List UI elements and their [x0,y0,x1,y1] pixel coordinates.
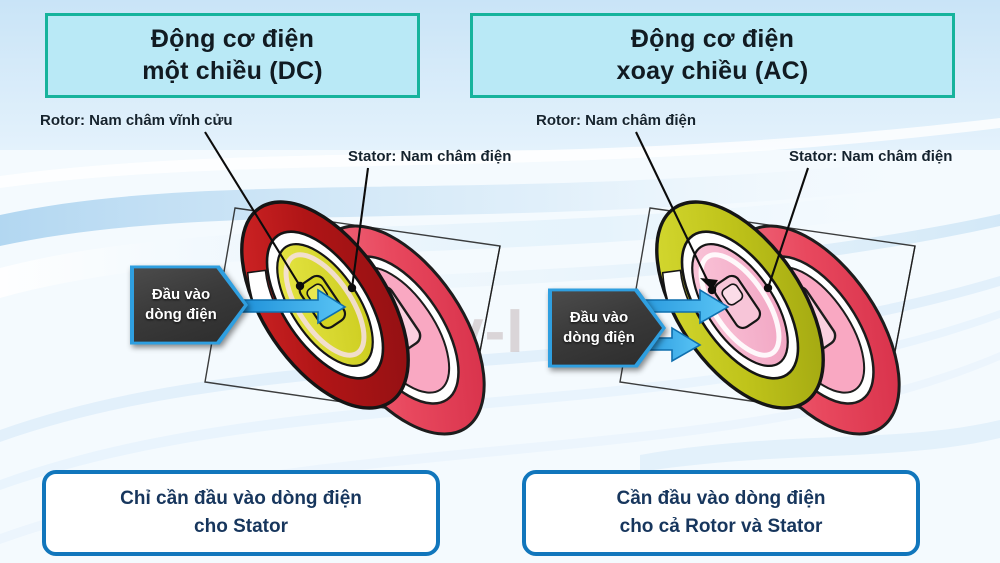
conclusion-text-dc: Chỉ cần đầu vào dòng điện cho Stator [120,485,362,540]
label-rotor-dc: Rotor: Nam châm vĩnh cửu [40,112,233,129]
leader-line-stator-dc [348,168,368,292]
watermark-text: joy-I [392,296,524,367]
label-stator-ac: Stator: Nam châm điện [789,148,952,165]
motor-dc [205,132,518,463]
callout-text-dc: Đầu vào dòng điện [145,285,233,325]
motor-ac [620,132,933,463]
leader-line-rotor-ac [636,132,718,294]
diagram-canvas: joy-I BRING [0,0,1000,563]
conclusion-box-dc: Chỉ cần đầu vào dòng điện cho Stator [42,470,440,556]
title-text-ac: Động cơ điện xoay chiều (AC) [617,24,809,87]
callout-current-input-dc: Đầu vào dòng điện [130,262,248,348]
title-box-ac: Động cơ điện xoay chiều (AC) [470,13,955,98]
title-box-dc: Động cơ điện một chiều (DC) [45,13,420,98]
callout-text-ac: Đầu vào dòng điện [563,308,651,348]
callout-current-input-ac: Đầu vào dòng điện [548,285,666,371]
leader-line-stator-ac [764,168,808,292]
current-arrow-dc [238,290,345,323]
title-text-dc: Động cơ điện một chiều (DC) [142,24,323,87]
label-stator-dc: Stator: Nam châm điện [348,148,511,165]
conclusion-text-ac: Cần đầu vào dòng điện cho cả Rotor và St… [616,485,825,540]
watermark-subtext: BRING [400,348,463,365]
label-rotor-ac: Rotor: Nam châm điện [536,112,696,129]
conclusion-box-ac: Cần đầu vào dòng điện cho cả Rotor và St… [522,470,920,556]
